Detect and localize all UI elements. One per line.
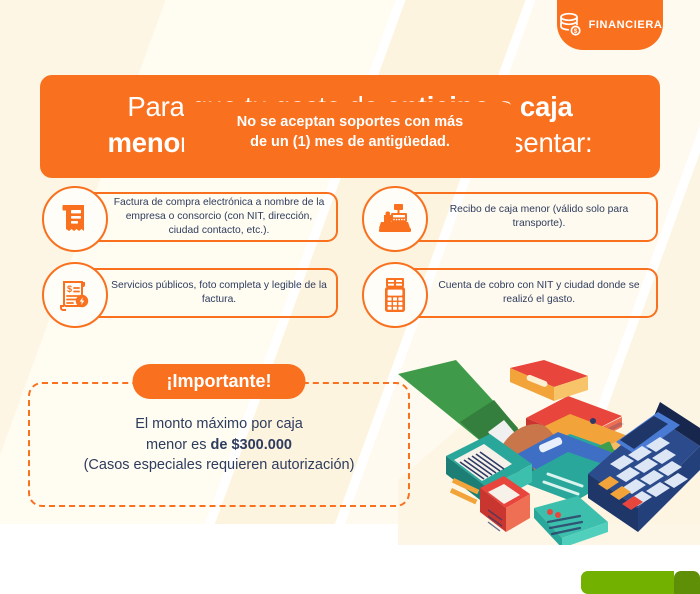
requirement-card-petty-cash-receipt: Recibo de caja menor (válido solo para t…: [362, 186, 658, 248]
brand-name: FINANCIERA: [589, 19, 663, 31]
important-note-line-2: de un (1) mes de antigüedad.: [194, 133, 506, 153]
footer-green-bar: [581, 571, 700, 594]
requirements-row-2: Servicios públicos, foto completa y legi…: [0, 262, 700, 324]
important-line-1: El monto máximo por caja: [30, 414, 408, 435]
important-badge: ¡Importante!: [133, 364, 306, 399]
requirement-frame: Cuenta de cobro con NIT y ciudad donde s…: [392, 268, 658, 318]
requirement-text: Factura de compra electrónica a nombre d…: [110, 196, 328, 238]
utility-bill-icon: $: [42, 262, 108, 328]
footer-green-bar-accent: [674, 571, 700, 594]
brand-badge: $ FINANCIERA: [557, 0, 663, 50]
requirement-frame: Servicios públicos, foto completa y legi…: [72, 268, 338, 318]
requirements-row-1: Factura de compra electrónica a nombre d…: [0, 186, 700, 248]
important-body: El monto máximo por caja menor es de $30…: [30, 414, 408, 476]
requirement-frame: Factura de compra electrónica a nombre d…: [72, 192, 338, 242]
footer-green-bar-main: [581, 571, 674, 594]
important-line-3: (Casos especiales requieren autorización…: [30, 455, 408, 476]
important-block: ¡Importante! El monto máximo por caja me…: [28, 382, 410, 507]
important-note-line-1: No se aceptan soportes con más: [194, 113, 506, 133]
infographic-page: $ FINANCIERA Para que tu gasto de antici…: [0, 0, 700, 594]
requirement-frame: Recibo de caja menor (válido solo para t…: [392, 192, 658, 242]
requirement-card-invoice: Factura de compra electrónica a nombre d…: [42, 186, 338, 248]
database-coin-icon: $: [558, 12, 582, 38]
pos-terminal-icon: [362, 262, 428, 328]
requirement-card-billing-account: Cuenta de cobro con NIT y ciudad donde s…: [362, 262, 658, 324]
important-note: No se aceptan soportes con más de un (1)…: [184, 102, 516, 163]
requirement-text: Servicios públicos, foto completa y legi…: [110, 279, 328, 307]
requirement-text: Recibo de caja menor (válido solo para t…: [430, 203, 648, 231]
requirements-grid: Factura de compra electrónica a nombre d…: [0, 186, 700, 338]
requirement-text: Cuenta de cobro con NIT y ciudad donde s…: [430, 279, 648, 307]
requirement-card-utilities: Servicios públicos, foto completa y legi…: [42, 262, 338, 324]
hand-paying-with-card-pos-terminals-illustration: [398, 360, 700, 545]
cash-register-icon: [362, 186, 428, 252]
invoice-receipt-icon: [42, 186, 108, 252]
important-line-2: menor es de $300.000: [30, 435, 408, 456]
svg-text:$: $: [67, 284, 72, 294]
